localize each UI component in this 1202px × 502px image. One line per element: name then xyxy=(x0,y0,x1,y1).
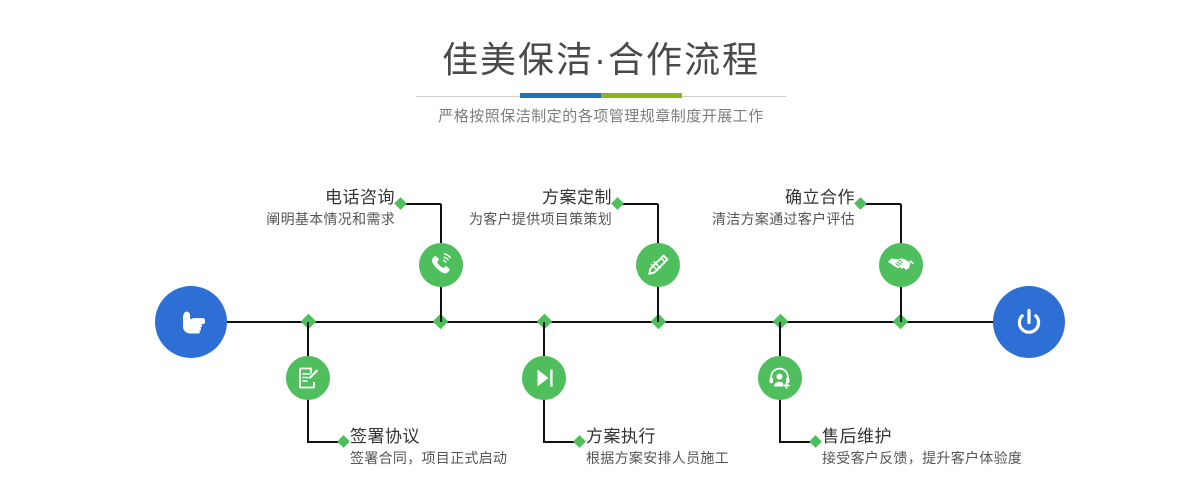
power-icon xyxy=(1009,302,1049,342)
step-5-icon-circle[interactable] xyxy=(879,243,923,287)
step-1-title: 电话咨询 xyxy=(155,187,395,209)
timeline-end-node xyxy=(993,286,1065,358)
sign-document-icon xyxy=(295,365,321,391)
header-divider-green-segment xyxy=(601,93,682,98)
pencil-edit-icon xyxy=(645,252,671,278)
step-2-label: 签署协议 签署合同，项目正式启动 xyxy=(350,426,610,468)
step-6-title: 售后维护 xyxy=(822,426,1122,448)
step-3-label: 方案定制 为客户提供项目策策划 xyxy=(390,187,612,229)
step-5-label: 确立合作 清洁方案通过客户评估 xyxy=(640,187,855,229)
step-1-label: 电话咨询 阐明基本情况和需求 xyxy=(155,187,395,229)
timeline-start-node xyxy=(155,286,227,358)
connector-leader-5 xyxy=(864,203,901,205)
headset-support-icon xyxy=(767,365,793,391)
step-3-icon-circle[interactable] xyxy=(636,243,680,287)
step-6-desc: 接受客户反馈，提升客户体验度 xyxy=(822,448,1122,468)
step-3-title: 方案定制 xyxy=(390,187,612,209)
page-title: 佳美保洁·合作流程 xyxy=(0,38,1202,82)
step-3-desc: 为客户提供项目策策划 xyxy=(390,209,612,229)
label-marker-2 xyxy=(337,435,350,448)
pointing-hand-icon xyxy=(171,302,211,342)
step-2-desc: 签署合同，项目正式启动 xyxy=(350,448,610,468)
step-5-desc: 清洁方案通过客户评估 xyxy=(640,209,855,229)
step-2-title: 签署协议 xyxy=(350,426,610,448)
step-6-icon-circle[interactable] xyxy=(758,356,802,400)
step-5-title: 确立合作 xyxy=(640,187,855,209)
step-4-icon-circle[interactable] xyxy=(522,356,566,400)
step-2-icon-circle[interactable] xyxy=(286,356,330,400)
play-next-icon xyxy=(531,365,557,391)
label-marker-3 xyxy=(611,197,624,210)
step-6-label: 售后维护 接受客户反馈，提升客户体验度 xyxy=(822,426,1122,468)
page-subtitle: 严格按照保洁制定的各项管理规章制度开展工作 xyxy=(0,106,1202,128)
header-divider-blue-segment xyxy=(520,93,601,98)
step-1-icon-circle[interactable] xyxy=(419,243,463,287)
phone-call-icon xyxy=(428,252,454,278)
label-marker-5 xyxy=(854,197,867,210)
process-flow-infographic: 佳美保洁·合作流程 严格按照保洁制定的各项管理规章制度开展工作 xyxy=(0,0,1202,502)
step-1-desc: 阐明基本情况和需求 xyxy=(155,209,395,229)
handshake-icon xyxy=(887,251,915,279)
